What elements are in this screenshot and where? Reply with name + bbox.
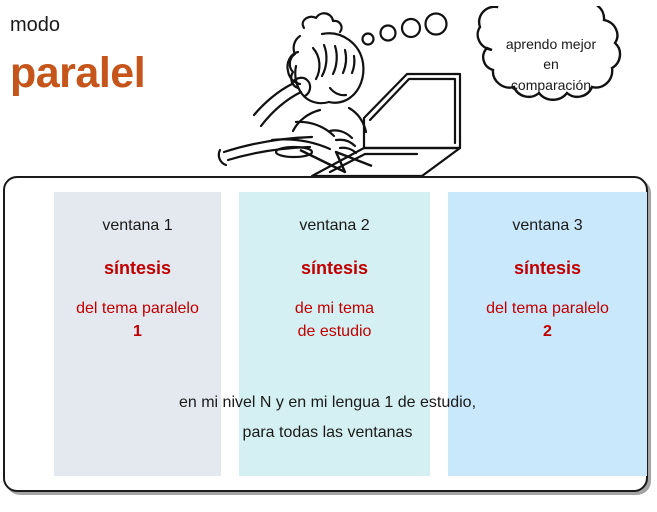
window-column-2-heading: síntesis — [239, 258, 430, 280]
window-column-3-body: del tema paralelo 2 — [448, 297, 647, 343]
window-column-3-title: ventana 3 — [448, 216, 647, 235]
window-column-3[interactable]: ventana 3 síntesis del tema paralelo 2 — [448, 192, 647, 476]
window-column-3-body-line-2: 2 — [543, 323, 552, 340]
window-column-2-body-line-1: de mi tema — [295, 300, 374, 317]
parallel-windows-frame: ventana 1 síntesis del tema paralelo 1 v… — [3, 176, 648, 492]
window-column-1-body-line-2: 1 — [133, 323, 142, 340]
window-column-2-body: de mi tema de estudio — [239, 297, 430, 343]
window-column-1-title: ventana 1 — [54, 216, 221, 235]
header-area: modo paralel — [0, 0, 657, 176]
window-column-3-body-line-1: del tema paralelo — [486, 300, 609, 317]
window-column-2-body-line-2: de estudio — [298, 323, 372, 340]
window-column-2-title: ventana 2 — [239, 216, 430, 235]
window-column-2[interactable]: ventana 2 síntesis de mi tema de estudio — [239, 192, 430, 476]
window-column-1[interactable]: ventana 1 síntesis del tema paralelo 1 — [54, 192, 221, 476]
window-column-1-body: del tema paralelo 1 — [54, 297, 221, 343]
thought-trail-icon — [0, 0, 657, 180]
columns-row: ventana 1 síntesis del tema paralelo 1 v… — [5, 178, 646, 490]
window-column-3-heading: síntesis — [448, 258, 647, 280]
window-column-1-body-line-1: del tema paralelo — [76, 300, 199, 317]
window-column-1-heading: síntesis — [54, 258, 221, 280]
